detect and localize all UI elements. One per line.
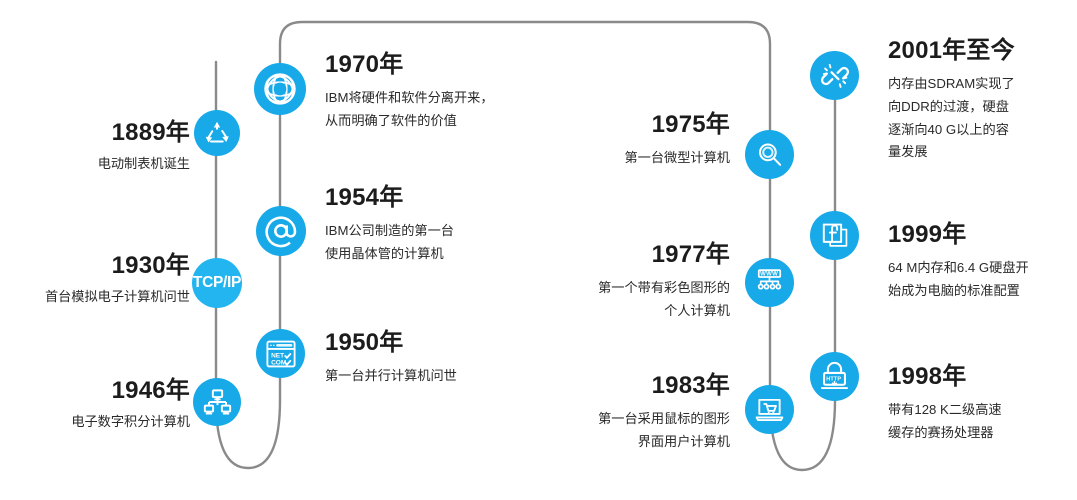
recycle-arrows-icon [202,118,232,148]
entry-1889: 1889年 电动制表机诞生 [0,120,190,176]
net-com-browser-icon: NET COM [264,337,298,371]
entry-1998-year: 1998年 [888,364,1077,389]
icon-recycle-arrows[interactable] [194,110,240,156]
entry-1977-line-2: 个人计算机 [440,300,730,323]
entry-1999-description: 64 M内存和6.4 G硬盘开 始成为电脑的标准配置 [888,257,1077,302]
at-sign-icon [261,211,301,251]
font-format-icon [819,220,851,252]
icon-laptop-cart[interactable] [745,385,794,434]
entry-1977-line-1: 第一个带有彩色图形的 [440,277,730,300]
entry-1946-description: 电子数字积分计算机 [0,411,190,434]
entry-1946-year: 1946年 [0,378,190,403]
entry-2001: 2001年至今 内存由SDRAM实现了 向DDR的过渡，硬盘 逐渐向40 G以上… [888,38,1077,164]
entry-1970-year: 1970年 [325,52,615,77]
entry-1975: 1975年 第一台微型计算机 [440,112,730,170]
entry-2001-description: 内存由SDRAM实现了 向DDR的过渡，硬盘 逐渐向40 G以上的容 量发展 [888,73,1077,164]
entry-1975-description: 第一台微型计算机 [440,147,730,170]
timeline-infographic: 1889年 电动制表机诞生 TCP/IP 1930年 首台模拟电子计算机问世 [0,0,1077,500]
entry-1998-description: 带有128 K二级高速 缓存的赛扬处理器 [888,399,1077,444]
entry-1889-line-1: 电动制表机诞生 [0,153,190,176]
entry-1954-year: 1954年 [325,185,615,210]
entry-1930-description: 首台模拟电子计算机问世 [0,286,190,309]
entry-1999-line-1: 64 M内存和6.4 G硬盘开 [888,257,1077,280]
entry-1930: 1930年 首台模拟电子计算机问世 [0,253,190,309]
entry-1946: 1946年 电子数字积分计算机 [0,378,190,434]
entry-1930-line-1: 首台模拟电子计算机问世 [0,286,190,309]
entry-1983-description: 第一台采用鼠标的图形 界面用户计算机 [440,408,730,453]
laptop-cart-icon [753,393,786,426]
svg-text:WWW: WWW [760,272,778,278]
broken-link-icon [819,60,851,92]
www-sitemap-icon: WWW [753,266,786,299]
entry-2001-line-4: 量发展 [888,141,1077,164]
entry-1977: 1977年 第一个带有彩色图形的 个人计算机 [440,242,730,323]
padlock-http-icon: HTTP [818,360,851,393]
icon-globe-network[interactable] [254,63,306,115]
entry-1998-line-2: 缓存的赛扬处理器 [888,422,1077,445]
svg-text:COM: COM [271,359,286,366]
entry-2001-line-3: 逐渐向40 G以上的容 [888,119,1077,142]
icon-tcp-ip[interactable]: TCP/IP [192,258,242,308]
entry-1975-line-1: 第一台微型计算机 [440,147,730,170]
entry-1983-line-2: 界面用户计算机 [440,431,730,454]
entry-1970-line-1: IBM将硬件和软件分离开来， [325,87,615,110]
entry-1977-year: 1977年 [440,242,730,267]
icon-www-sitemap[interactable]: WWW [745,258,794,307]
magnifier-icon [754,139,786,171]
entry-1977-description: 第一个带有彩色图形的 个人计算机 [440,277,730,322]
entry-1975-year: 1975年 [440,112,730,137]
icon-network-nodes[interactable] [193,378,241,426]
entry-1999-line-2: 始成为电脑的标准配置 [888,280,1077,303]
tcp-ip-label: TCP/IP [193,274,241,292]
entry-2001-year: 2001年至今 [888,38,1077,63]
icon-at-sign[interactable] [256,206,306,256]
entry-1946-line-1: 电子数字积分计算机 [0,411,190,434]
network-nodes-icon [202,387,233,418]
entry-1889-description: 电动制表机诞生 [0,153,190,176]
entry-1999: 1999年 64 M内存和6.4 G硬盘开 始成为电脑的标准配置 [888,222,1077,303]
icon-font-format[interactable] [810,211,859,260]
icon-padlock-http[interactable]: HTTP [810,352,859,401]
entry-1983-year: 1983年 [440,373,730,398]
icon-net-com-browser[interactable]: NET COM [256,329,305,378]
globe-network-icon [261,70,299,108]
entry-1889-year: 1889年 [0,120,190,145]
entry-1998-line-1: 带有128 K二级高速 [888,399,1077,422]
entry-1954-line-1: IBM公司制造的第一台 [325,220,615,243]
entry-1930-year: 1930年 [0,253,190,278]
entry-1983-line-1: 第一台采用鼠标的图形 [440,408,730,431]
entry-1999-year: 1999年 [888,222,1077,247]
icon-broken-link[interactable] [810,51,859,100]
entry-1950-year: 1950年 [325,330,615,355]
entry-2001-line-2: 向DDR的过渡，硬盘 [888,96,1077,119]
entry-2001-line-1: 内存由SDRAM实现了 [888,73,1077,96]
entry-1983: 1983年 第一台采用鼠标的图形 界面用户计算机 [440,373,730,454]
entry-1998: 1998年 带有128 K二级高速 缓存的赛扬处理器 [888,364,1077,445]
icon-magnifier[interactable] [745,130,794,179]
